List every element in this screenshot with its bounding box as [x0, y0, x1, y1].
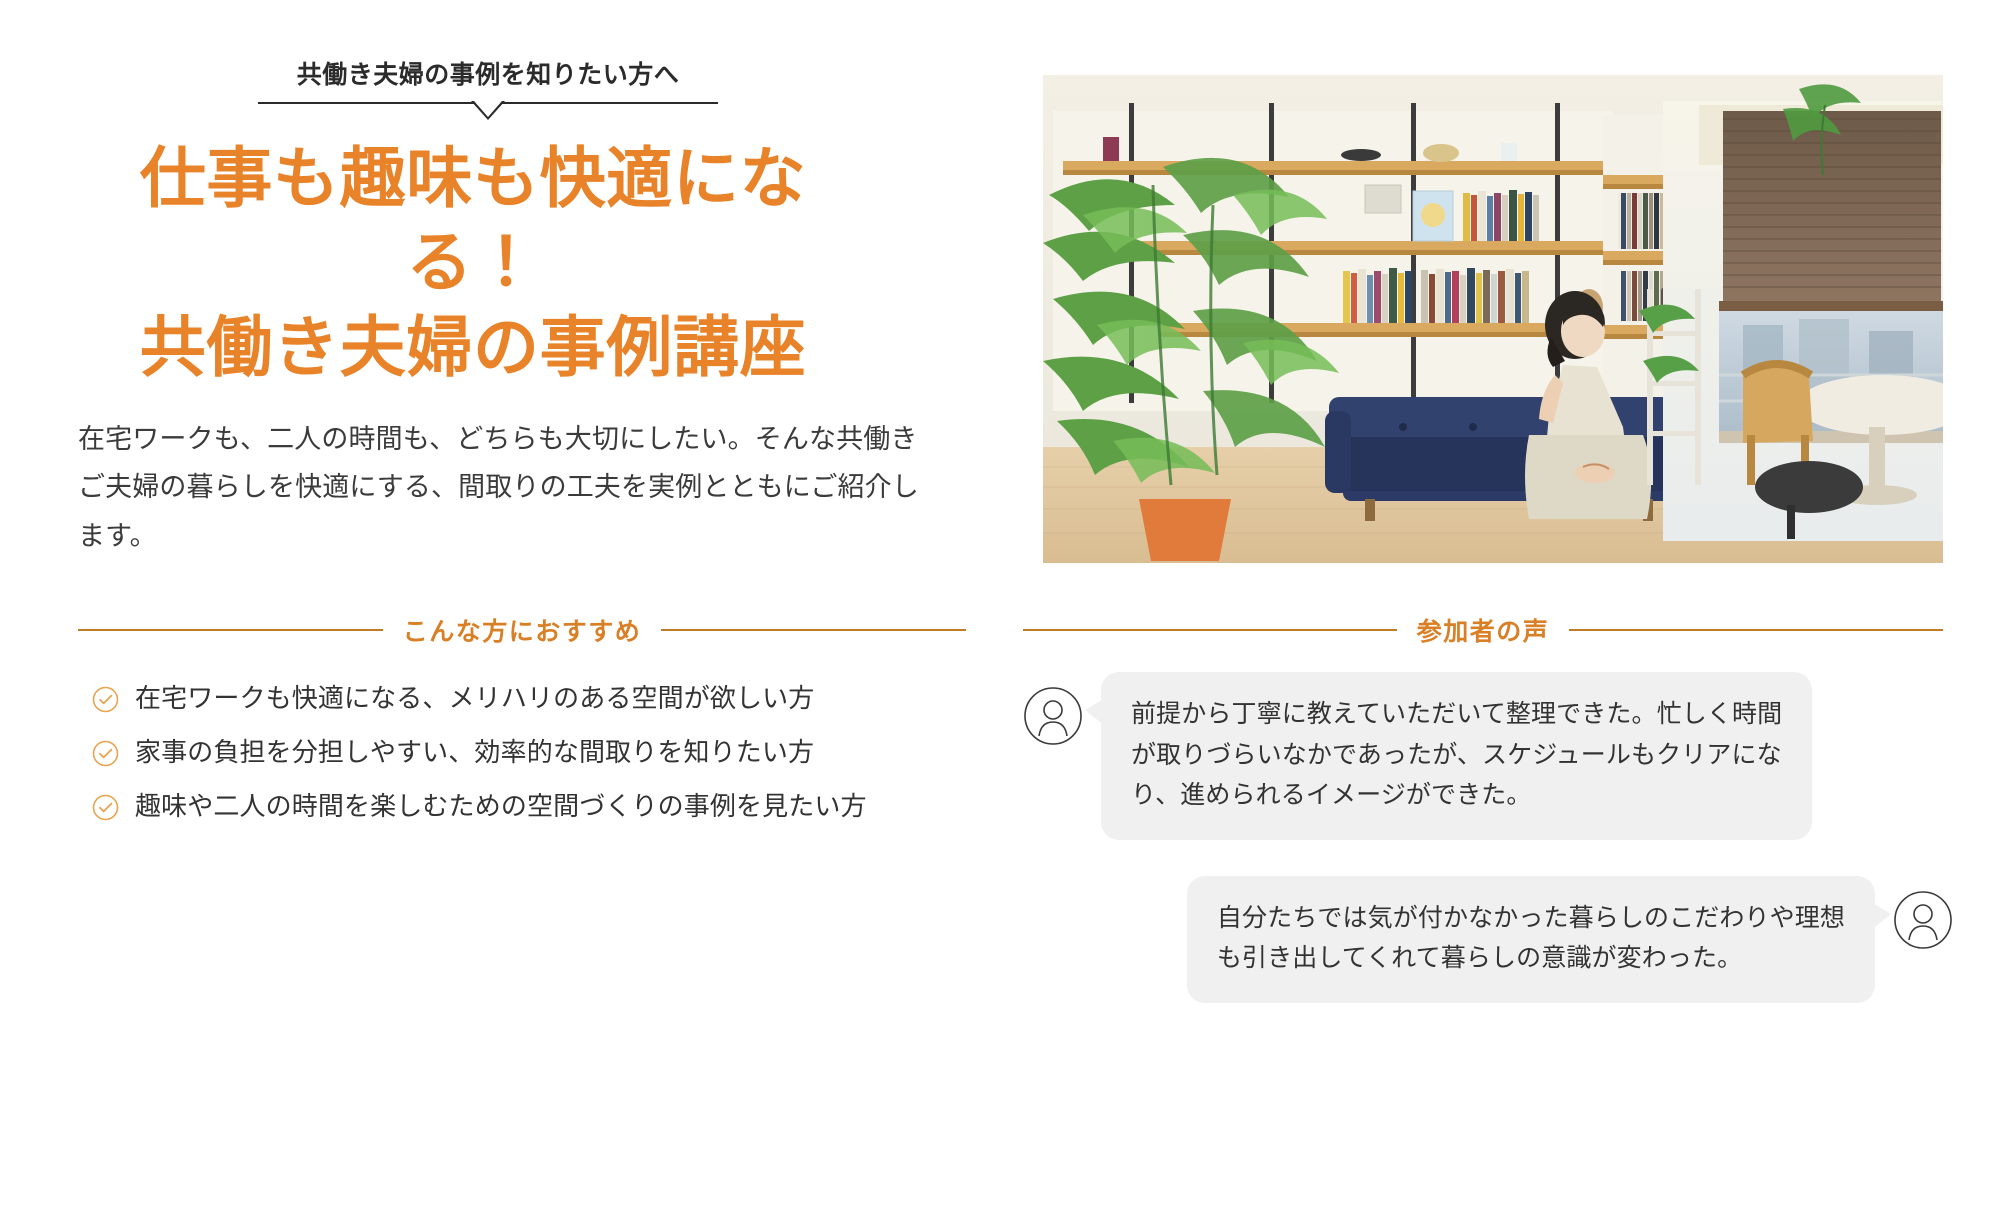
testimonial-line: 自分たちでは気が付かなかった暮らしのこだわりや理想	[1217, 898, 1845, 939]
testimonial-line: り、進められるイメージができた。	[1131, 775, 1782, 816]
list-item-label: 家事の負担を分担しやすい、効率的な間取りを知りたい方	[135, 734, 814, 772]
page-root: 共働き夫婦の事例を知りたい方へ 仕事も趣味も快適になる！ 共働き夫婦の事例講座 …	[0, 0, 2000, 1232]
list-item-label: 在宅ワークも快適になる、メリハリのある空間が欲しい方	[135, 680, 814, 718]
testimonial-line: も引き出してくれて暮らしの意識が変わった。	[1217, 938, 1845, 979]
recommend-section-title: こんな方におすすめ	[403, 612, 642, 648]
testimonial-row-1: 前提から丁寧に教えていただいて整理できた。忙しく時間 が取りづらいなかであったが…	[1023, 672, 1953, 840]
bubble-tail-icon	[1871, 902, 1891, 930]
voices-section-title: 参加者の声	[1417, 612, 1550, 648]
headline-line-2: 共働き夫婦の事例講座	[78, 305, 868, 389]
eyebrow-label: 共働き夫婦の事例を知りたい方へ	[258, 60, 718, 102]
living-room-couple-photo	[1043, 75, 1943, 563]
rule-right	[661, 629, 966, 631]
page-title: 仕事も趣味も快適になる！ 共働き夫婦の事例講座	[78, 136, 868, 389]
testimonial-row-2: 自分たちでは気が付かなかった暮らしのこだわりや理想 も引き出してくれて暮らしの意…	[1023, 876, 1953, 1003]
voices-list: 前提から丁寧に教えていただいて整理できた。忙しく時間 が取りづらいなかであったが…	[1023, 672, 1953, 1003]
rule-right	[1569, 629, 1943, 631]
list-item: 趣味や二人の時間を楽しむための空間づくりの事例を見たい方	[92, 780, 992, 834]
lead-line-3: ます。	[78, 521, 157, 551]
testimonial-bubble: 自分たちでは気が付かなかった暮らしのこだわりや理想 も引き出してくれて暮らしの意…	[1187, 876, 1875, 1003]
recommend-list: 在宅ワークも快適になる、メリハリのある空間が欲しい方 家事の負担を分担しやすい、…	[92, 672, 992, 834]
testimonial-line: 前提から丁寧に教えていただいて整理できた。忙しく時間	[1131, 694, 1782, 735]
eyebrow-divider	[258, 102, 718, 104]
list-item-label: 趣味や二人の時間を楽しむための空間づくりの事例を見たい方	[135, 788, 867, 826]
chevron-down-icon	[471, 101, 505, 120]
user-avatar-icon	[1023, 686, 1083, 746]
list-item: 在宅ワークも快適になる、メリハリのある空間が欲しい方	[92, 672, 992, 726]
lead-paragraph: 在宅ワークも、二人の時間も、どちらも大切にしたい。そんな共働き ご夫婦の暮らしを…	[78, 415, 983, 559]
bubble-tail-icon	[1085, 698, 1105, 726]
lead-line-1: 在宅ワークも、二人の時間も、どちらも大切にしたい。そんな共働き	[78, 424, 918, 454]
recommend-section-header: こんな方におすすめ	[78, 612, 966, 648]
eyebrow-block: 共働き夫婦の事例を知りたい方へ	[258, 60, 718, 104]
check-circle-icon	[92, 740, 119, 767]
user-avatar-icon	[1893, 890, 1953, 950]
headline-line-1: 仕事も趣味も快適になる！	[78, 136, 868, 305]
rule-left	[78, 629, 383, 631]
lead-line-2: ご夫婦の暮らしを快適にする、間取りの工夫を実例とともにご紹介し	[78, 472, 919, 502]
hero-text-column: 共働き夫婦の事例を知りたい方へ 仕事も趣味も快適になる！ 共働き夫婦の事例講座 …	[78, 60, 978, 560]
voices-section-header: 参加者の声	[1023, 612, 1943, 648]
testimonial-bubble: 前提から丁寧に教えていただいて整理できた。忙しく時間 が取りづらいなかであったが…	[1101, 672, 1812, 840]
check-circle-icon	[92, 794, 119, 821]
testimonial-line: が取りづらいなかであったが、スケジュールもクリアにな	[1131, 735, 1782, 776]
rule-left	[1023, 629, 1397, 631]
hero-photo	[1043, 75, 1943, 563]
list-item: 家事の負担を分担しやすい、効率的な間取りを知りたい方	[92, 726, 992, 780]
check-circle-icon	[92, 686, 119, 713]
